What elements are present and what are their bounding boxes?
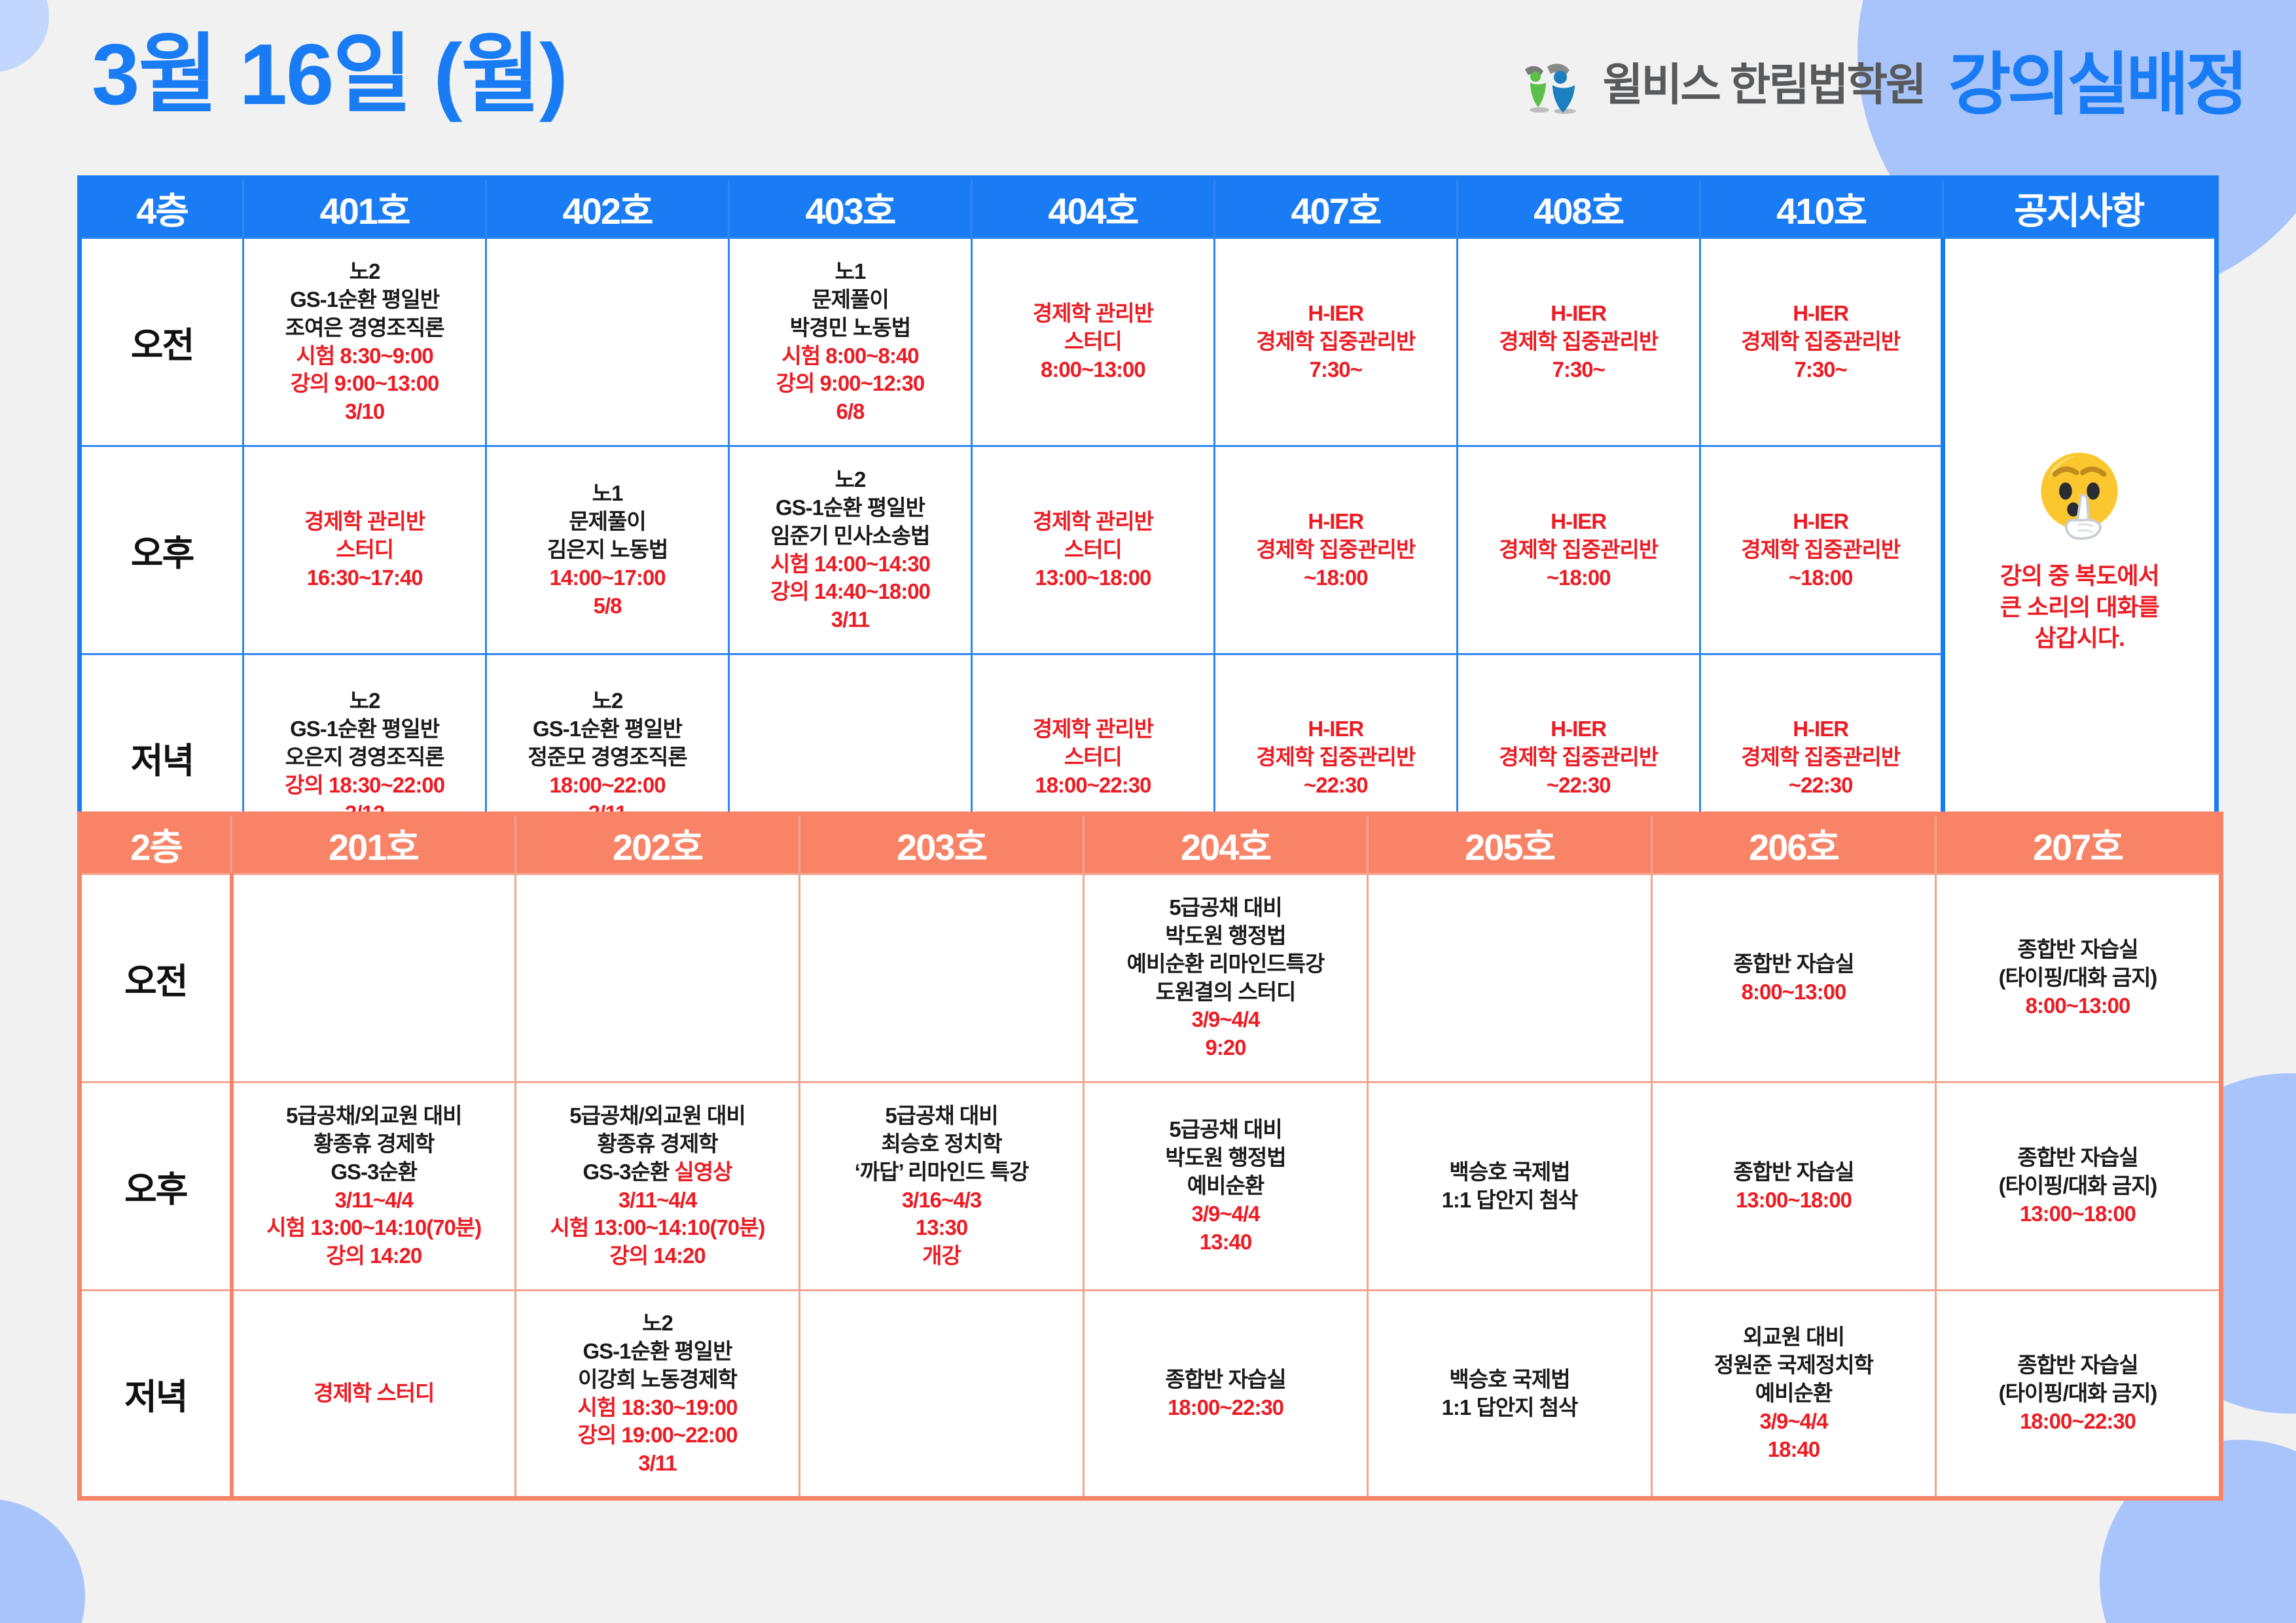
floor2-cell-r1-c6[interactable]: 종합반 자습실(타이핑/대화 금지)13:00~18:00 [1936, 1082, 2221, 1291]
cell-content: 노2GS-1순환 평일반임준기 민사소송법시험 14:00~14:30강의 14… [732, 466, 968, 634]
floor2-col-202: 202호 [516, 814, 800, 874]
floor4-row: 오전노2GS-1순환 평일반조여은 경영조직론시험 8:30~9:00강의 9:… [80, 238, 2217, 446]
cell-line: 스터디 [247, 536, 482, 564]
cell-line: 종합반 자습실 [1655, 950, 1932, 978]
cell-line: 경제학 관리반 [975, 508, 1211, 536]
cell-line: 1:1 답안지 첨삭 [1371, 1394, 1648, 1422]
floor2-row-label-0: 오전 [80, 874, 232, 1082]
floor2-cell-r1-c5[interactable]: 종합반 자습실13:00~18:00 [1652, 1082, 1936, 1291]
cell-line: 7:30~ [1461, 356, 1696, 384]
floor4-cell-r0-c6[interactable]: H-IER경제학 집중관리반7:30~ [1700, 238, 1943, 446]
floor2-cell-r0-c4[interactable] [1368, 874, 1652, 1082]
floor4-cell-r1-c3[interactable]: 경제학 관리반스터디13:00~18:00 [971, 446, 1214, 654]
cell-line: 3/9~4/4 [1087, 1200, 1364, 1228]
floor2-cell-r1-c2[interactable]: 5급공채 대비최승호 정치학‘까답’ 리마인드 특강3/16~4/313:30개… [800, 1082, 1084, 1291]
cell-line: 노2 [519, 1310, 796, 1338]
floor4-cell-r1-c4[interactable]: H-IER경제학 집중관리반~18:00 [1214, 446, 1457, 654]
floor2-header-row: 2층 201호 202호 203호 204호 205호 206호 207호 [80, 814, 2221, 874]
cell-line: 백승호 국제법 [1371, 1158, 1648, 1186]
cell-line: 강의 14:20 [236, 1242, 512, 1270]
floor4-label: 4층 [80, 178, 243, 238]
cell-line: 9:20 [1087, 1034, 1364, 1062]
floor2-cell-r0-c3[interactable]: 5급공채 대비박도원 행정법예비순환 리마인드특강도원결의 스터디3/9~4/4… [1084, 874, 1368, 1082]
cell-content: 경제학 관리반스터디18:00~22:30 [975, 715, 1211, 800]
cell-line: H-IER [1461, 508, 1696, 536]
cell-line: 예비순환 [1655, 1380, 1932, 1408]
cell-line: H-IER [1704, 300, 1938, 328]
cell-line: 도원결의 스터디 [1087, 978, 1364, 1007]
cell-content: 경제학 스터디 [236, 1380, 512, 1408]
cell-line: 강의 19:00~22:00 [519, 1421, 796, 1450]
cell-line: 스터디 [975, 536, 1211, 564]
cell-line: 정원준 국제정치학 [1655, 1351, 1932, 1380]
brand-block: 윌비스 한림법학원 강의실배정 [1517, 51, 2245, 119]
cell-line: 시험 8:30~9:00 [247, 342, 482, 370]
cell-line: 문제풀이 [490, 508, 725, 536]
floor4-col-403: 403호 [729, 178, 972, 238]
cell-line: 경제학 집중관리반 [1704, 328, 1938, 356]
cell-line: GS-3순환 [236, 1158, 512, 1186]
floor2-cell-r1-c1[interactable]: 5급공채/외교원 대비황종휴 경제학GS-3순환 실영상3/11~4/4시험 1… [516, 1082, 800, 1291]
cell-line: 13:40 [1087, 1228, 1364, 1257]
cell-line: H-IER [1461, 300, 1696, 328]
poster-header: 3월 16일 (월) 윌비스 한림법학원 강의실배정 [0, 0, 2296, 173]
cell-line: 8:00~13:00 [1655, 978, 1932, 1007]
cell-line: 5급공채 대비 [1087, 1116, 1364, 1144]
floor2-label: 2층 [80, 814, 232, 874]
cell-line: 이강희 노동경제학 [519, 1366, 796, 1394]
floor2-col-205: 205호 [1368, 814, 1652, 874]
cell-line: 종합반 자습실 [1939, 936, 2216, 964]
cell-content: 노2GS-1순환 평일반오은지 경영조직론강의 18:30~22:003/12 [247, 687, 482, 827]
floor2-row: 오전5급공채 대비박도원 행정법예비순환 리마인드특강도원결의 스터디3/9~4… [80, 874, 2221, 1082]
floor2-cell-r2-c6[interactable]: 종합반 자습실(타이핑/대화 금지)18:00~22:30 [1936, 1291, 2221, 1499]
cell-content: 노2GS-1순환 평일반조여은 경영조직론시험 8:30~9:00강의 9:00… [247, 258, 482, 426]
cell-line: 13:00~18:00 [975, 564, 1211, 592]
floor2-cell-r0-c5[interactable]: 종합반 자습실8:00~13:00 [1652, 874, 1936, 1082]
cell-line: (타이핑/대화 금지) [1939, 964, 2216, 992]
cell-line: H-IER [1704, 715, 1938, 743]
cell-line: 경제학 집중관리반 [1461, 743, 1696, 772]
cell-content: 노1문제풀이김은지 노동법14:00~17:005/8 [490, 480, 725, 620]
cell-line: 경제학 스터디 [236, 1380, 512, 1408]
cell-line: 최승호 정치학 [803, 1130, 1080, 1158]
cell-line: 강의 14:20 [519, 1242, 796, 1270]
decorative-circle-bottom-left [0, 1499, 85, 1623]
cell-line: 경제학 관리반 [247, 508, 482, 536]
cell-line: 정준모 경영조직론 [490, 743, 725, 772]
cell-line: 스터디 [975, 328, 1211, 356]
cell-content: H-IER경제학 집중관리반7:30~ [1461, 300, 1696, 384]
floor2-col-207: 207호 [1936, 814, 2221, 874]
floor2-col-204: 204호 [1084, 814, 1368, 874]
cell-line: 5급공채 대비 [803, 1102, 1080, 1130]
cell-line: 스터디 [975, 743, 1211, 772]
cell-line: 황종휴 경제학 [519, 1130, 796, 1158]
cell-line: 강의 18:30~22:00 [247, 772, 482, 800]
cell-line: 경제학 집중관리반 [1461, 536, 1696, 564]
cell-line: ~18:00 [1461, 564, 1696, 592]
notice-line: 삼갑시다. [2000, 622, 2159, 654]
cell-line: 임준기 민사소송법 [732, 522, 968, 550]
cell-line: 황종휴 경제학 [236, 1130, 512, 1158]
cell-line: 5급공채/외교원 대비 [519, 1102, 796, 1130]
cell-line: 예비순환 [1087, 1172, 1364, 1200]
cell-line: 노1 [732, 258, 968, 286]
cell-line: 3/10 [247, 398, 482, 426]
floor4-row: 오후경제학 관리반스터디16:30~17:40노1문제풀이김은지 노동법14:0… [80, 446, 2217, 654]
cell-line: 3/11 [732, 606, 968, 634]
cell-content: H-IER경제학 집중관리반7:30~ [1218, 300, 1454, 384]
cell-line: 외교원 대비 [1655, 1323, 1932, 1351]
cell-line: 조여은 경영조직론 [247, 314, 482, 342]
cell-content: 백승호 국제법1:1 답안지 첨삭 [1371, 1366, 1648, 1422]
cell-line: ~22:30 [1461, 772, 1696, 800]
cell-line: 3/11 [519, 1450, 796, 1478]
cell-line: 8:00~13:00 [1939, 992, 2216, 1020]
floor4-col-410: 410호 [1700, 178, 1943, 238]
cell-line: 경제학 집중관리반 [1218, 536, 1454, 564]
floor2-schedule-table: 2층 201호 202호 203호 204호 205호 206호 207호 오전… [77, 811, 2223, 1501]
cell-line: 7:30~ [1704, 356, 1938, 384]
floor4-cell-r1-c0[interactable]: 경제학 관리반스터디16:30~17:40 [243, 446, 486, 654]
cell-content: 노2GS-1순환 평일반이강희 노동경제학시험 18:30~19:00강의 19… [519, 1310, 796, 1478]
cell-line: GS-1순환 평일반 [490, 715, 725, 743]
cell-line: 3/16~4/3 [803, 1186, 1080, 1215]
cell-content: 종합반 자습실13:00~18:00 [1655, 1158, 1932, 1215]
cell-line: 5급공채 대비 [1087, 894, 1364, 922]
cell-content: H-IER경제학 집중관리반~22:30 [1704, 715, 1938, 800]
notice-inner: 강의 중 복도에서큰 소리의 대화를삼갑시다. [1953, 445, 2206, 654]
cell-line: 문제풀이 [732, 286, 968, 314]
cell-line: 1:1 답안지 첨삭 [1371, 1186, 1648, 1215]
floor2-cell-r2-c2[interactable] [800, 1291, 1084, 1499]
cell-content: 종합반 자습실(타이핑/대화 금지)8:00~13:00 [1939, 936, 2216, 1020]
cell-line: 경제학 집중관리반 [1704, 743, 1938, 772]
cell-line: 백승호 국제법 [1371, 1366, 1648, 1394]
floor4-cell-r0-c5[interactable]: H-IER경제학 집중관리반7:30~ [1457, 238, 1700, 446]
floor2-row-label-2: 저녁 [80, 1291, 232, 1499]
cell-line: 종합반 자습실 [1939, 1144, 2216, 1172]
cell-content: 경제학 관리반스터디13:00~18:00 [975, 508, 1211, 592]
cell-line: 노2 [247, 687, 482, 715]
cell-content: H-IER경제학 집중관리반~18:00 [1704, 508, 1938, 592]
cell-line: 13:00~18:00 [1939, 1200, 2216, 1228]
cell-content: 종합반 자습실(타이핑/대화 금지)18:00~22:30 [1939, 1351, 2216, 1436]
cell-line: 김은지 노동법 [490, 536, 725, 564]
cell-content: 노1문제풀이박경민 노동법시험 8:00~8:40강의 9:00~12:306/… [732, 258, 968, 426]
cell-line: 3/11~4/4 [519, 1186, 796, 1215]
floor2-cell-r2-c5[interactable]: 외교원 대비정원준 국제정치학예비순환3/9~4/418:40 [1652, 1291, 1936, 1499]
cell-line: 시험 8:00~8:40 [732, 342, 968, 370]
cell-line: 18:40 [1655, 1436, 1932, 1464]
cell-line: ‘까답’ 리마인드 특강 [803, 1158, 1080, 1186]
cell-line: 14:00~17:00 [490, 564, 725, 592]
cell-line: 경제학 집중관리반 [1704, 536, 1938, 564]
notice-cell: 강의 중 복도에서큰 소리의 대화를삼갑시다. [1943, 238, 2216, 863]
floor4-row-label-1: 오후 [80, 446, 243, 654]
cell-line: ~18:00 [1218, 564, 1454, 592]
cell-line: H-IER [1461, 715, 1696, 743]
cell-line: 개강 [803, 1242, 1080, 1270]
wilbis-people-logo-icon [1517, 55, 1588, 115]
page-title: 3월 16일 (월) [92, 31, 567, 118]
floor4-cell-r1-c2[interactable]: 노2GS-1순환 평일반임준기 민사소송법시험 14:00~14:30강의 14… [729, 446, 972, 654]
floor2-cell-r1-c0[interactable]: 5급공채/외교원 대비황종휴 경제학GS-3순환3/11~4/4시험 13:00… [232, 1082, 516, 1291]
cell-content: 5급공채 대비박도원 행정법예비순환 리마인드특강도원결의 스터디3/9~4/4… [1087, 894, 1364, 1062]
notice-line: 큰 소리의 대화를 [2000, 592, 2159, 623]
cell-line: 경제학 집중관리반 [1218, 743, 1454, 772]
floor4-cell-r1-c6[interactable]: H-IER경제학 집중관리반~18:00 [1700, 446, 1943, 654]
cell-line: (타이핑/대화 금지) [1939, 1172, 2216, 1200]
floor2-cell-r0-c2[interactable] [800, 874, 1084, 1082]
shushing-face-emoji-icon [2030, 445, 2128, 543]
floor2-cell-r0-c6[interactable]: 종합반 자습실(타이핑/대화 금지)8:00~13:00 [1936, 874, 2221, 1082]
cell-line: 종합반 자습실 [1087, 1366, 1364, 1394]
cell-line: 경제학 집중관리반 [1461, 328, 1696, 356]
cell-content: 5급공채 대비박도원 행정법예비순환3/9~4/413:40 [1087, 1116, 1364, 1256]
floor2-col-203: 203호 [800, 814, 1084, 874]
cell-line: 경제학 관리반 [975, 300, 1211, 328]
floor2-row-label-1: 오후 [80, 1082, 232, 1291]
cell-line: GS-1순환 평일반 [247, 715, 482, 743]
floor4-cell-r0-c0[interactable]: 노2GS-1순환 평일반조여은 경영조직론시험 8:30~9:00강의 9:00… [243, 238, 486, 446]
cell-line: 예비순환 리마인드특강 [1087, 950, 1364, 978]
cell-line: 13:30 [803, 1214, 1080, 1242]
cell-line: 박도원 행정법 [1087, 1144, 1364, 1172]
floor2-cell-r0-c1[interactable] [516, 874, 800, 1082]
cell-line: 노2 [490, 687, 725, 715]
cell-line: 3/9~4/4 [1087, 1006, 1364, 1034]
cell-line: H-IER [1704, 508, 1938, 536]
cell-content: 노2GS-1순환 평일반정준모 경영조직론18:00~22:003/11 [490, 687, 725, 827]
cell-line: 노2 [732, 466, 968, 494]
cell-line: 강의 14:40~18:00 [732, 578, 968, 606]
floor2-row: 저녁경제학 스터디노2GS-1순환 평일반이강희 노동경제학시험 18:30~1… [80, 1291, 2221, 1499]
floor4-cell-r0-c2[interactable]: 노1문제풀이박경민 노동법시험 8:00~8:40강의 9:00~12:306/… [729, 238, 972, 446]
cell-content: H-IER경제학 집중관리반~18:00 [1218, 508, 1454, 592]
floor2-col-206: 206호 [1652, 814, 1936, 874]
floor4-col-408: 408호 [1457, 178, 1700, 238]
cell-content: 종합반 자습실(타이핑/대화 금지)13:00~18:00 [1939, 1144, 2216, 1228]
floor4-col-402: 402호 [486, 178, 729, 238]
cell-line: 노1 [490, 480, 725, 508]
floor4-cell-r1-c5[interactable]: H-IER경제학 집중관리반~18:00 [1457, 446, 1700, 654]
cell-line: 시험 13:00~14:10(70분) [519, 1214, 796, 1242]
cell-content: 백승호 국제법1:1 답안지 첨삭 [1371, 1158, 1648, 1215]
floor2-cell-r2-c0[interactable]: 경제학 스터디 [232, 1291, 516, 1499]
cell-content: H-IER경제학 집중관리반~22:30 [1461, 715, 1696, 800]
floor2-cell-r2-c1[interactable]: 노2GS-1순환 평일반이강희 노동경제학시험 18:30~19:00강의 19… [516, 1291, 800, 1499]
cell-line: 18:00~22:30 [975, 772, 1211, 800]
floor4-row-label-0: 오전 [80, 238, 243, 446]
cell-line: 6/8 [732, 398, 968, 426]
cell-line: 18:00~22:00 [490, 772, 725, 800]
cell-line: H-IER [1218, 300, 1454, 328]
floor2-cell-r2-c4[interactable]: 백승호 국제법1:1 답안지 첨삭 [1368, 1291, 1652, 1499]
cell-line: GS-1순환 평일반 [247, 286, 482, 314]
cell-line: GS-3순환 실영상 [519, 1158, 796, 1186]
cell-content: 종합반 자습실18:00~22:30 [1087, 1366, 1364, 1422]
cell-content: H-IER경제학 집중관리반7:30~ [1704, 300, 1938, 384]
floor4-col-401: 401호 [243, 178, 486, 238]
cell-line: 박도원 행정법 [1087, 922, 1364, 950]
brand-subtitle: 강의실배정 [1948, 51, 2245, 119]
cell-line: 경제학 관리반 [975, 715, 1211, 743]
schedule-poster: 3월 16일 (월) 윌비스 한림법학원 강의실배정 4층 [0, 0, 2296, 1623]
cell-line: (타이핑/대화 금지) [1939, 1380, 2216, 1408]
cell-line: 13:00~18:00 [1655, 1186, 1932, 1215]
cell-content: 5급공채/외교원 대비황종휴 경제학GS-3순환 실영상3/11~4/4시험 1… [519, 1102, 796, 1270]
brand-name: 윌비스 한림법학원 [1602, 63, 1924, 107]
floor2-row: 오후5급공채/외교원 대비황종휴 경제학GS-3순환3/11~4/4시험 13:… [80, 1082, 2221, 1291]
cell-content: 5급공채/외교원 대비황종휴 경제학GS-3순환3/11~4/4시험 13:00… [236, 1102, 512, 1270]
cell-line: 3/9~4/4 [1655, 1408, 1932, 1436]
cell-line: 박경민 노동법 [732, 314, 968, 342]
floor4-cell-r0-c3[interactable]: 경제학 관리반스터디8:00~13:00 [971, 238, 1214, 446]
cell-line: 경제학 집중관리반 [1218, 328, 1454, 356]
cell-line: 강의 9:00~12:30 [732, 370, 968, 398]
floor4-cell-r1-c1[interactable]: 노1문제풀이김은지 노동법14:00~17:005/8 [486, 446, 729, 654]
notice-line: 강의 중 복도에서 [2000, 560, 2159, 592]
cell-line: 시험 13:00~14:10(70분) [236, 1214, 512, 1242]
cell-content: 외교원 대비정원준 국제정치학예비순환3/9~4/418:40 [1655, 1323, 1932, 1463]
cell-content: 경제학 관리반스터디8:00~13:00 [975, 300, 1211, 384]
cell-line: 시험 18:30~19:00 [519, 1394, 796, 1422]
floor2-cell-r2-c3[interactable]: 종합반 자습실18:00~22:30 [1084, 1291, 1368, 1499]
cell-line: 노2 [247, 258, 482, 286]
cell-line: ~22:30 [1218, 772, 1454, 800]
cell-line: GS-1순환 평일반 [732, 494, 968, 522]
cell-line: 종합반 자습실 [1939, 1351, 2216, 1380]
cell-line: 5급공채/외교원 대비 [236, 1102, 512, 1130]
cell-content: 종합반 자습실8:00~13:00 [1655, 950, 1932, 1007]
cell-content: H-IER경제학 집중관리반~18:00 [1461, 508, 1696, 592]
cell-content: H-IER경제학 집중관리반~22:30 [1218, 715, 1454, 800]
floor2-cell-r1-c4[interactable]: 백승호 국제법1:1 답안지 첨삭 [1368, 1082, 1652, 1291]
cell-line: 8:00~13:00 [975, 356, 1211, 384]
floor2-cell-r0-c0[interactable] [232, 874, 516, 1082]
cell-line: 시험 14:00~14:30 [732, 550, 968, 579]
cell-line: 3/11~4/4 [236, 1186, 512, 1215]
cell-content: 5급공채 대비최승호 정치학‘까답’ 리마인드 특강3/16~4/313:30개… [803, 1102, 1080, 1270]
cell-content: 경제학 관리반스터디16:30~17:40 [247, 508, 482, 592]
cell-line: 종합반 자습실 [1655, 1158, 1932, 1186]
floor4-header-row: 4층 401호 402호 403호 404호 407호 408호 410호 공지… [80, 178, 2217, 238]
cell-line: H-IER [1218, 715, 1454, 743]
floor4-schedule-table: 4층 401호 402호 403호 404호 407호 408호 410호 공지… [77, 175, 2219, 865]
cell-line: 18:00~22:30 [1087, 1394, 1364, 1422]
cell-line: ~22:30 [1704, 772, 1938, 800]
floor4-col-404: 404호 [971, 178, 1214, 238]
cell-line: ~18:00 [1704, 564, 1938, 592]
cell-line: 강의 9:00~13:00 [247, 370, 482, 398]
notice-text: 강의 중 복도에서큰 소리의 대화를삼갑시다. [2000, 560, 2159, 654]
cell-line: 18:00~22:30 [1939, 1408, 2216, 1436]
cell-line: 5/8 [490, 592, 725, 620]
cell-line: 7:30~ [1218, 356, 1454, 384]
floor4-cell-r0-c1[interactable] [486, 238, 729, 446]
floor2-cell-r1-c3[interactable]: 5급공채 대비박도원 행정법예비순환3/9~4/413:40 [1084, 1082, 1368, 1291]
floor2-col-201: 201호 [232, 814, 516, 874]
cell-line: GS-1순환 평일반 [519, 1338, 796, 1366]
cell-line: 16:30~17:40 [247, 564, 482, 592]
floor4-cell-r0-c4[interactable]: H-IER경제학 집중관리반7:30~ [1214, 238, 1457, 446]
floor4-col-notice: 공지사항 [1943, 178, 2216, 238]
floor4-col-407: 407호 [1214, 178, 1457, 238]
cell-line: H-IER [1218, 508, 1454, 536]
cell-line: 오은지 경영조직론 [247, 743, 482, 772]
